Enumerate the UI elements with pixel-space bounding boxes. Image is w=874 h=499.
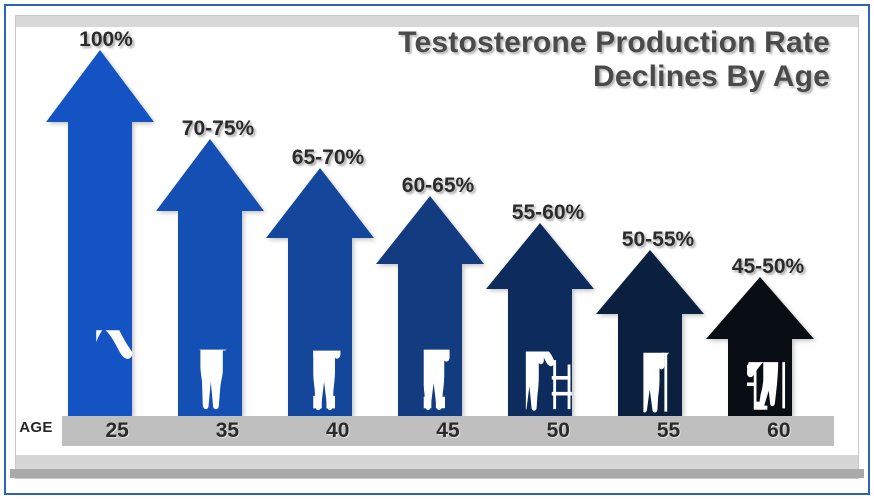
page-title: Testosterone Production Rate Declines By… [398,26,830,93]
arrow-svg [706,277,814,416]
bar-value-label: 65-70% [248,146,408,170]
arrow-shape [46,50,154,416]
bar-column [266,168,374,416]
age-axis-tick: 40 [283,416,393,446]
age-axis-tick: 35 [172,416,282,446]
arrow-svg [46,50,154,416]
title-line-2: Declines By Age [398,60,830,94]
arrow-shape [706,277,814,416]
axis-caption: AGE [12,419,60,436]
title-line-1: Testosterone Production Rate [398,26,830,60]
bar-column [156,139,264,416]
age-axis-tick: 45 [393,416,503,446]
age-axis-tick: 55 [613,416,723,446]
bar-value-label: 100% [26,28,186,52]
age-axis: 25354045505560 [62,416,834,446]
bar-column [376,196,484,416]
bar-value-label: 50-55% [578,228,738,252]
bar-column [706,277,814,416]
arrow-svg [376,196,484,416]
arrow-svg [156,139,264,416]
arrow-body [706,277,814,416]
arrow-body [46,50,154,416]
age-axis-tick: 50 [503,416,613,446]
arrow-shape [376,196,484,416]
arrow-shape [156,139,264,416]
arrow-shape [266,168,374,416]
bar-column [46,50,154,416]
chart-stage: Testosterone Production Rate Declines By… [0,0,874,499]
bar-value-label: 60-65% [358,174,518,198]
arrow-svg [266,168,374,416]
bar-value-label: 55-60% [468,201,628,225]
age-axis-tick: 25 [62,416,172,446]
infographic-canvas: Testosterone Production Rate Declines By… [0,0,874,499]
bar-value-label: 70-75% [138,117,298,141]
age-axis-tick: 60 [724,416,834,446]
bar-value-label: 45-50% [688,255,848,279]
